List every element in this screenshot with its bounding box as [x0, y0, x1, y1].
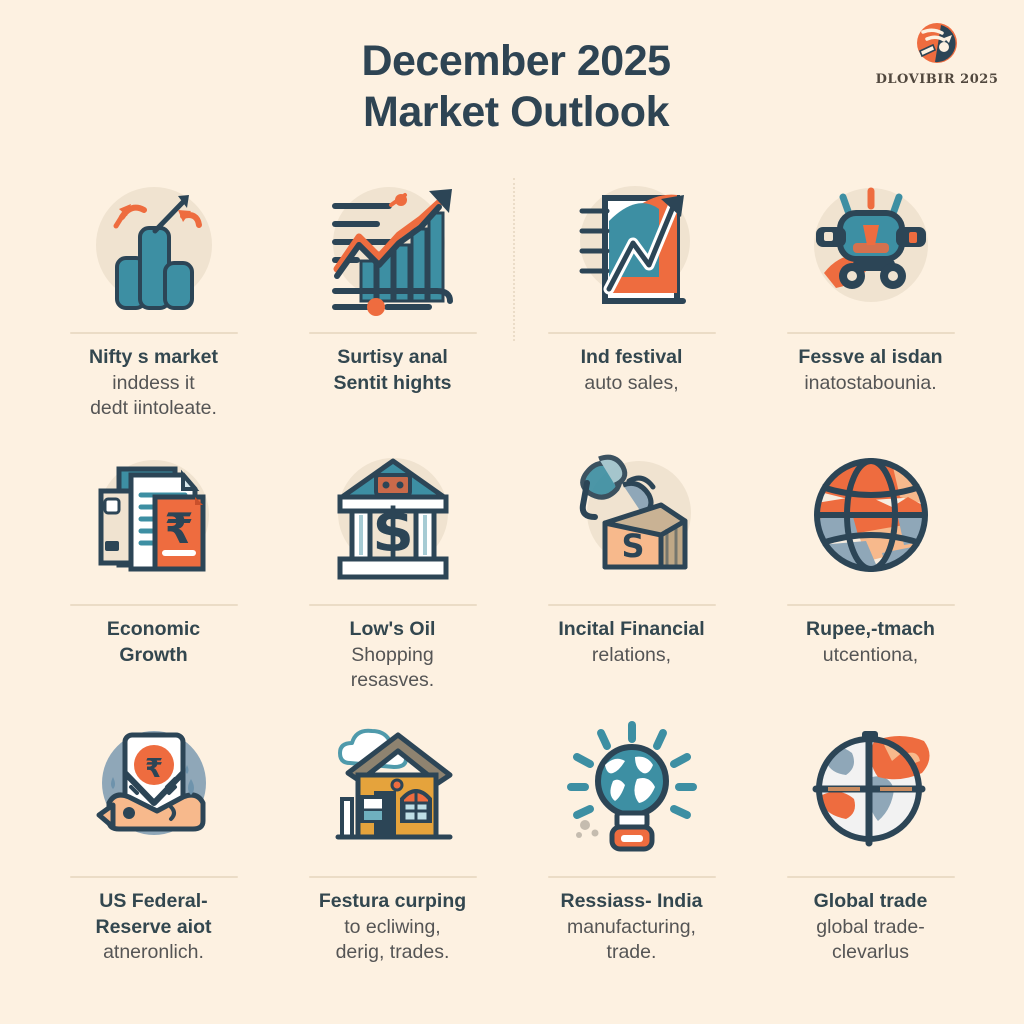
bank-dollar-icon: $ — [318, 440, 468, 600]
card-caption-line: Reserve aiot — [96, 915, 212, 941]
card-item[interactable]: Fessve al isdan inatostabounia. — [751, 168, 990, 440]
card-caption: Surtisy anal Sentit hights — [333, 345, 451, 396]
brand-logo: DLOVIBIR 2025 — [872, 18, 1002, 87]
card-item[interactable]: $ Low's Oil Shopping resasves. — [273, 440, 512, 712]
card-rule — [70, 332, 238, 334]
card-caption-line: trade. — [561, 940, 703, 966]
card-caption: Fessve al isdan inatostabounia. — [798, 345, 942, 396]
card-caption-line: Rupee,-tmach — [806, 617, 935, 643]
card-caption-line: relations, — [558, 643, 704, 669]
header: December 2025 Market Outlook DLOVIBIR 20… — [0, 0, 1024, 160]
card-caption-line: Surtisy anal — [333, 345, 451, 371]
globe-lightbulb-icon — [557, 712, 707, 872]
card-caption-line: global trade- — [814, 915, 928, 941]
card-caption-line: Ind festival — [581, 345, 683, 371]
card-caption-line: atneronlich. — [96, 940, 212, 966]
card-caption-line: utcentiona, — [806, 643, 935, 669]
globe-crosshair-icon — [796, 712, 946, 872]
card-rule — [70, 876, 238, 878]
card-caption: US Federal- Reserve aiot atneronlich. — [96, 889, 212, 966]
card-caption-line: manufacturing, — [561, 915, 703, 941]
card-caption-line: US Federal- — [96, 889, 212, 915]
page-title-line-2: Market Outlook — [8, 87, 1024, 138]
card-rule — [309, 876, 477, 878]
globe-grid-icon — [796, 440, 946, 600]
page-title: December 2025 Market Outlook — [0, 36, 1024, 137]
hands-money-icon: ₹ — [79, 712, 229, 872]
card-caption: Ind festival auto sales, — [581, 345, 683, 396]
robot-vehicle-icon — [796, 168, 946, 328]
card-caption: Incital Financial relations, — [558, 617, 704, 668]
bar-chart-growth-icon — [79, 168, 229, 328]
card-caption-line: to ecliwing, — [319, 915, 466, 941]
card-rule — [309, 604, 477, 606]
card-grid: Nifty s market inddess it dedt iintoleat… — [34, 168, 990, 984]
card-caption: Rupee,-tmach utcentiona, — [806, 617, 935, 668]
card-caption: Global trade global trade- clevarlus — [814, 889, 928, 966]
card-rule — [787, 604, 955, 606]
svg-text:₹: ₹ — [164, 504, 193, 553]
card-rule — [309, 332, 477, 334]
card-item[interactable]: Ressiass- India manufacturing, trade. — [512, 712, 751, 984]
card-caption: Economic Growth — [107, 617, 200, 668]
card-rule — [548, 876, 716, 878]
card-item[interactable]: ₹ Economic Growth — [34, 440, 273, 712]
card-caption-line: auto sales, — [581, 371, 683, 397]
card-caption-line: Nifty s market — [89, 345, 218, 371]
card-rule — [548, 604, 716, 606]
card-caption-line: derig, trades. — [319, 940, 466, 966]
card-item[interactable]: Global trade global trade- clevarlus — [751, 712, 990, 984]
card-item[interactable]: S Incital Financial relations, — [512, 440, 751, 712]
card-caption-line: Incital Financial — [558, 617, 704, 643]
card-caption-line: Economic — [107, 617, 200, 643]
card-rule — [787, 876, 955, 878]
card-caption: Ressiass- India manufacturing, trade. — [561, 889, 703, 966]
svg-text:$: $ — [372, 496, 414, 566]
card-caption-line: Growth — [107, 643, 200, 669]
card-item[interactable]: Surtisy anal Sentit hights — [273, 168, 512, 440]
card-caption-line: inddess it — [89, 371, 218, 397]
card-rule — [70, 604, 238, 606]
card-caption: Low's Oil Shopping resasves. — [350, 617, 436, 694]
card-caption-line: Ressiass- India — [561, 889, 703, 915]
card-item[interactable]: Ind festival auto sales, — [512, 168, 751, 440]
card-caption-line: Sentit hights — [333, 371, 451, 397]
card-item[interactable]: ₹ US Federal- Reserve aiot — [34, 712, 273, 984]
card-caption-line: Fessve al isdan — [798, 345, 942, 371]
card-item[interactable]: Rupee,-tmach utcentiona, — [751, 440, 990, 712]
card-rule — [787, 332, 955, 334]
line-chart-uptrend-icon — [317, 168, 469, 328]
card-caption: Festura curping to ecliwing, derig, trad… — [319, 889, 466, 966]
crate-box-icon: S — [557, 440, 707, 600]
house-cloud-icon — [318, 712, 468, 872]
card-rule — [548, 332, 716, 334]
svg-text:₹: ₹ — [144, 754, 162, 784]
card-caption-line: dedt iintoleate. — [89, 396, 218, 422]
card-caption-line: resasves. — [350, 668, 436, 694]
card-item[interactable]: Nifty s market inddess it dedt iintoleat… — [34, 168, 273, 440]
card-caption-line: clevarlus — [814, 940, 928, 966]
documents-rupee-icon: ₹ — [79, 440, 229, 600]
svg-text:S: S — [621, 527, 644, 565]
card-caption-line: inatostabounia. — [798, 371, 942, 397]
brand-logo-text: DLOVIBIR 2025 — [872, 72, 1002, 87]
card-caption-line: Shopping — [350, 643, 436, 669]
abstract-circle-logo-icon — [911, 18, 963, 70]
card-caption-line: Global trade — [814, 889, 928, 915]
card-caption-line: Low's Oil — [350, 617, 436, 643]
card-caption: Nifty s market inddess it dedt iintoleat… — [89, 345, 218, 422]
card-item[interactable]: Festura curping to ecliwing, derig, trad… — [273, 712, 512, 984]
card-caption-line: Festura curping — [319, 889, 466, 915]
stock-chart-arrow-icon — [557, 168, 707, 328]
